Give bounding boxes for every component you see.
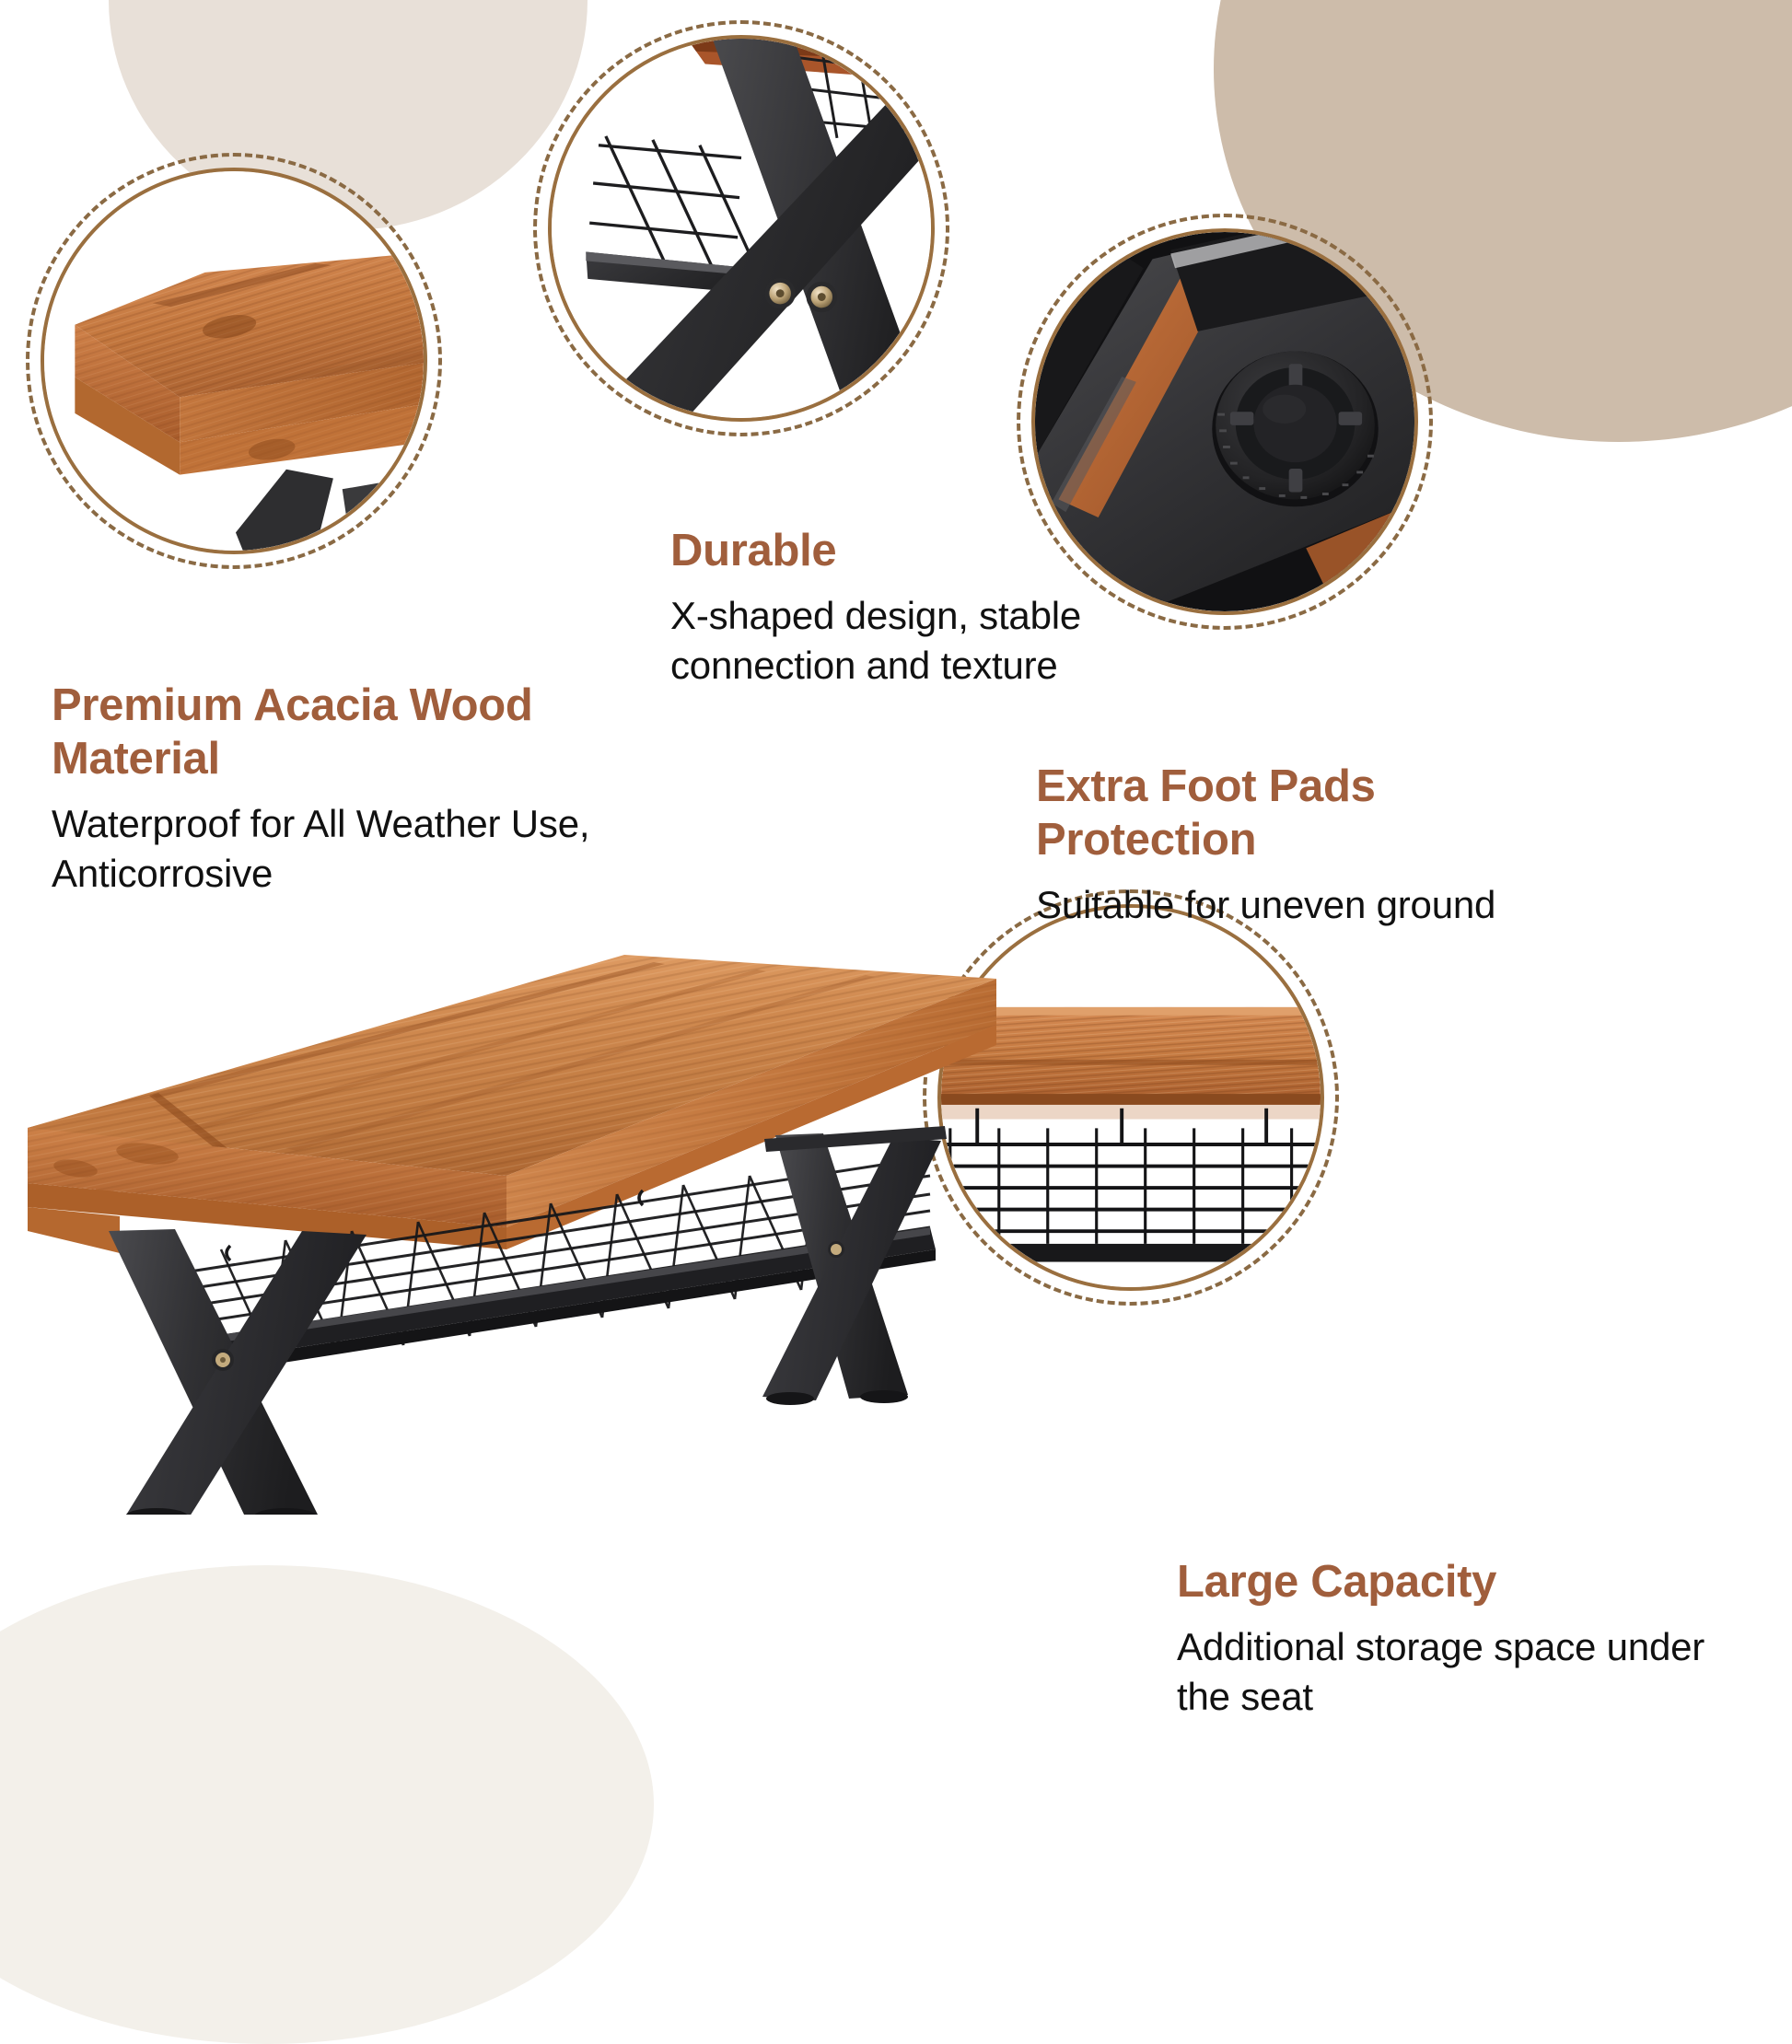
- feature-heading: Premium Acacia Wood Material: [52, 679, 641, 786]
- photo-ring: [548, 35, 935, 422]
- feature-heading: Durable: [670, 525, 1103, 578]
- feature-durable: Durable X-shaped design, stable connecti…: [670, 525, 1103, 691]
- feature-body: X-shaped design, stable connection and t…: [670, 591, 1103, 691]
- feature-heading: Extra Foot Pads Protection: [1036, 761, 1515, 867]
- decorative-circle-bottom-left: [0, 1565, 654, 2044]
- callout-photo-premium-acacia-wood: [41, 168, 427, 554]
- feature-body: Suitable for uneven ground: [1036, 880, 1515, 931]
- feature-extra-foot-pads-protection: Extra Foot Pads Protection Suitable for …: [1036, 761, 1515, 930]
- photo-x-frame-bolt-joint: [552, 39, 931, 418]
- photo-ring: [41, 168, 427, 554]
- feature-body: Additional storage space under the seat: [1177, 1622, 1748, 1723]
- hero-product-image: [9, 907, 1077, 1515]
- callout-photo-durable-x-frame: [548, 35, 935, 422]
- feature-heading: Large Capacity: [1177, 1556, 1748, 1609]
- feature-premium-acacia-wood: Premium Acacia Wood Material Waterproof …: [52, 679, 641, 900]
- photo-acacia-wood-tabletop: [44, 171, 424, 551]
- feature-large-capacity: Large Capacity Additional storage space …: [1177, 1556, 1748, 1723]
- feature-body: Waterproof for All Weather Use, Anticorr…: [52, 799, 641, 900]
